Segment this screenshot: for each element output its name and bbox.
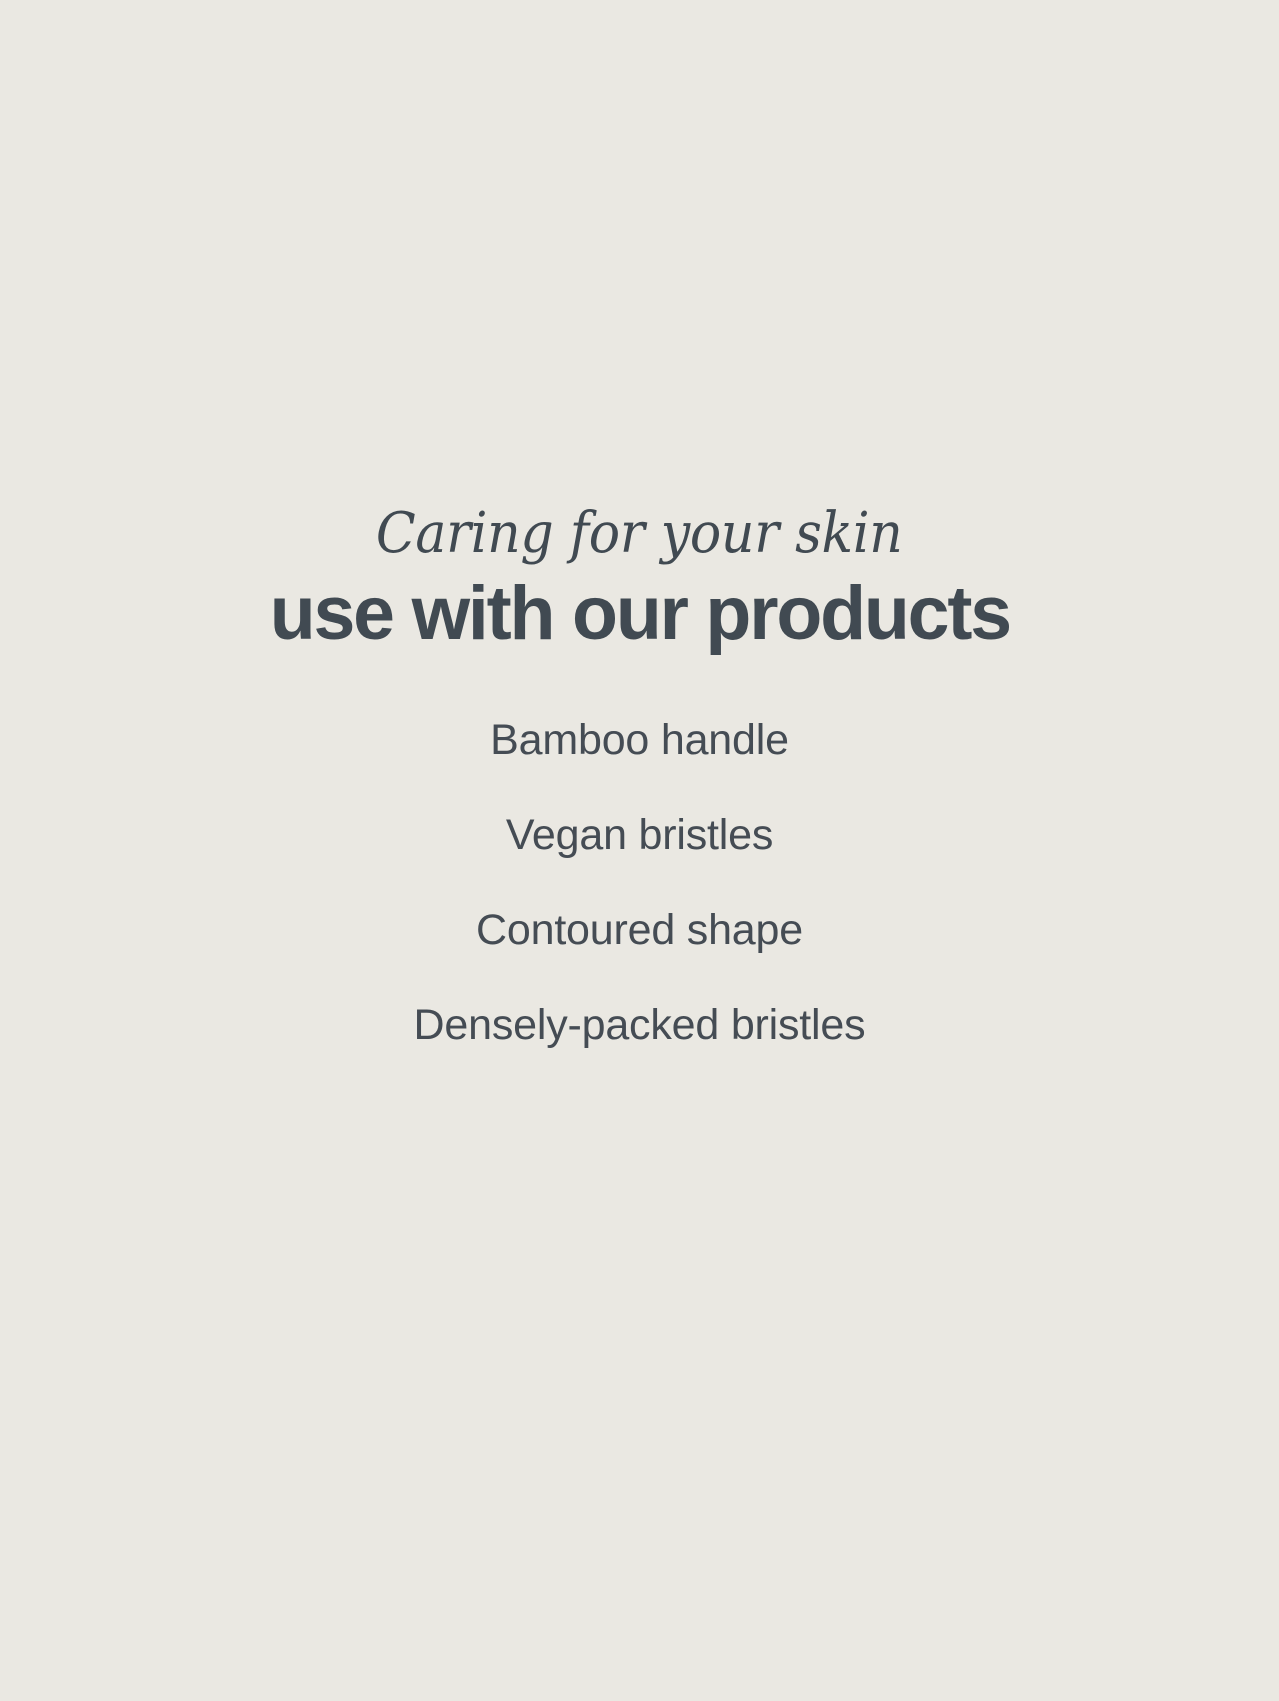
content-block: Caring for your skin use with our produc…	[0, 505, 1279, 1047]
list-item: Vegan bristles	[506, 814, 773, 857]
list-item: Bamboo handle	[490, 719, 789, 762]
section-headline: use with our products	[269, 575, 1009, 653]
product-features-panel: Caring for your skin use with our produc…	[0, 0, 1279, 1701]
list-item: Densely-packed bristles	[414, 1004, 866, 1047]
feature-list: Bamboo handle Vegan bristles Contoured s…	[0, 719, 1279, 1047]
list-item: Contoured shape	[476, 909, 803, 952]
section-eyebrow: Caring for your skin	[376, 505, 903, 563]
